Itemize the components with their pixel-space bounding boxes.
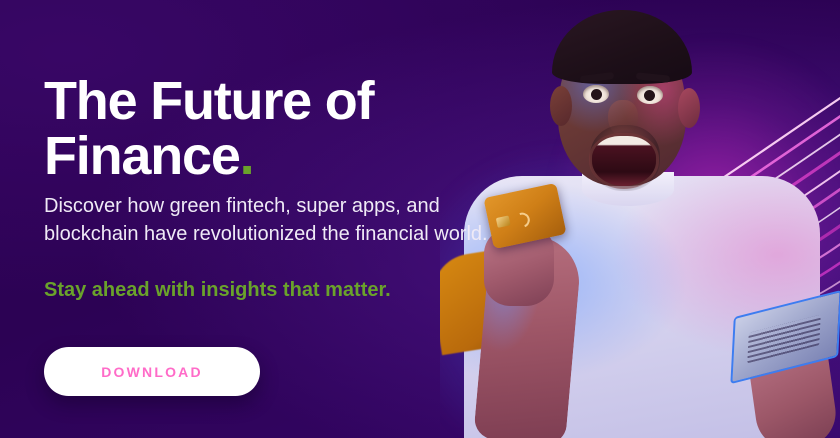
hero-tagline: Stay ahead with insights that matter. — [44, 276, 391, 304]
subject-pupil-left — [591, 89, 602, 100]
headline-line-2: Finance — [44, 126, 240, 186]
subject-ear-left — [550, 86, 572, 126]
contactless-icon — [512, 210, 532, 230]
page-title: The Future ofFinance. — [44, 74, 373, 184]
subject-open-mouth — [592, 136, 656, 186]
hero-content: The Future ofFinance. Discover how green… — [44, 0, 514, 438]
hero-banner: The Future ofFinance. Discover how green… — [0, 0, 840, 438]
hero-description: Discover how green fintech, super apps, … — [44, 192, 494, 248]
download-button[interactable]: DOWNLOAD — [44, 347, 260, 396]
subject-pupil-right — [644, 90, 655, 101]
headline-accent-dot: . — [240, 126, 254, 186]
laptop — [726, 304, 840, 400]
subject-ear-right — [678, 88, 700, 128]
subject-hair — [552, 10, 692, 84]
headline-line-1: The Future of — [44, 71, 373, 131]
